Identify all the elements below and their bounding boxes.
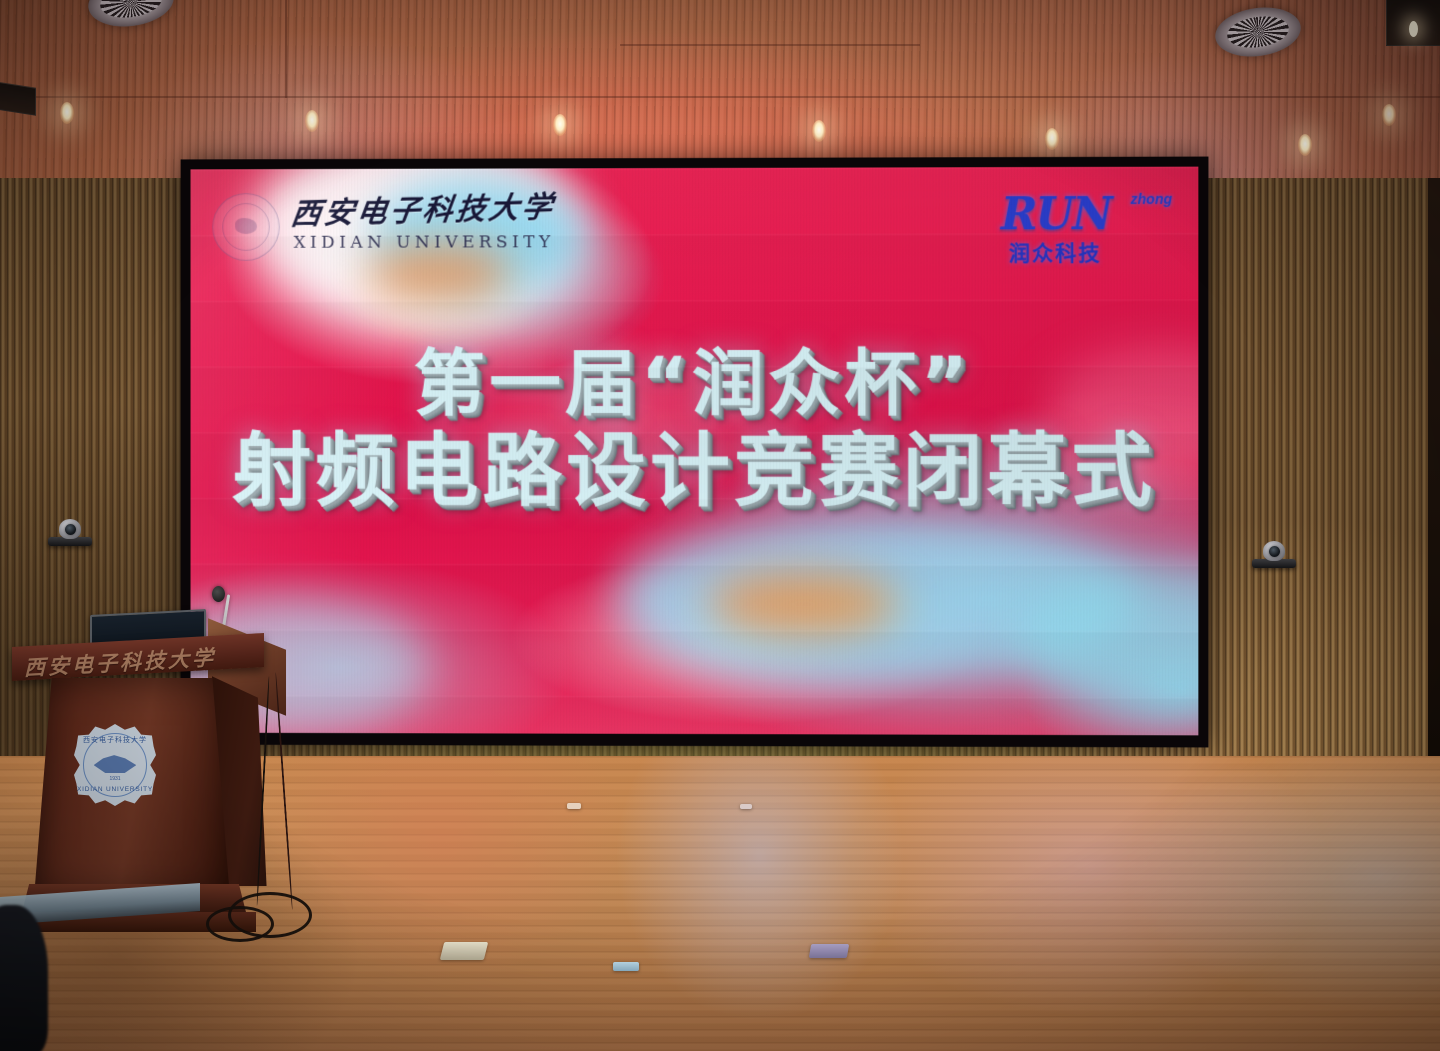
- led-screen[interactable]: 西安电子科技大学 XIDIAN UNIVERSITY RUN zhong 润众科…: [191, 167, 1199, 736]
- ceiling-seam: [0, 96, 1440, 98]
- floor-outlet-plate: [809, 944, 849, 958]
- cable-coil: [206, 906, 274, 942]
- runzhong-technology-logo: RUN zhong 润众科技: [1001, 187, 1174, 262]
- ceiling-downlight: [60, 102, 74, 124]
- ceiling-downlight: [812, 120, 826, 142]
- floor-marker: [740, 804, 752, 809]
- emblem-text-chinese: 西安电子科技大学: [74, 735, 156, 745]
- led-screen-frame: 西安电子科技大学 XIDIAN UNIVERSITY RUN zhong 润众科…: [181, 157, 1209, 748]
- university-name-english: XIDIAN UNIVERSITY: [294, 232, 555, 252]
- microphone-head-icon: [212, 586, 225, 602]
- ceiling-downlight: [1298, 134, 1312, 156]
- emblem-text-english: XIDIAN UNIVERSITY: [74, 786, 156, 793]
- ceiling-downlight: [1045, 128, 1059, 150]
- ceiling-seam: [285, 0, 287, 98]
- wall-edge-shadow: [1428, 178, 1440, 758]
- ceiling-light-panel: [1386, 0, 1440, 46]
- event-title-line1: 第一届“润众杯”: [191, 343, 1199, 422]
- floor-marker: [567, 803, 581, 809]
- xidian-university-logo: 西安电子科技大学 XIDIAN UNIVERSITY: [212, 190, 500, 268]
- sponsor-name-chinese: 润众科技: [1009, 237, 1102, 267]
- ceiling-downlight: [553, 114, 567, 136]
- event-title-line2: 射频电路设计竞赛闭幕式: [191, 428, 1199, 514]
- ceiling-seam: [620, 44, 920, 46]
- ptz-camera-left: [48, 516, 92, 546]
- sponsor-wordmark: RUN: [1001, 193, 1111, 237]
- floor-outlet-plate: [440, 942, 488, 960]
- camera-lens-icon: [1269, 546, 1280, 557]
- floor-outlet-plate: [613, 962, 639, 971]
- camera-lens-icon: [65, 524, 76, 535]
- auditorium-scene: 西安电子科技大学 XIDIAN UNIVERSITY RUN zhong 润众科…: [0, 0, 1440, 1051]
- event-title-block: 第一届“润众杯” 射频电路设计竞赛闭幕式: [191, 343, 1199, 514]
- ceiling-downlight: [305, 110, 319, 132]
- sponsor-superscript: zhong: [1131, 191, 1173, 207]
- ptz-camera-right: [1252, 538, 1296, 568]
- university-seal-icon: [212, 193, 279, 261]
- ceiling-downlight: [1382, 104, 1396, 126]
- emblem-year: 1931: [74, 776, 156, 782]
- university-emblem: 西安电子科技大学 1931 XIDIAN UNIVERSITY: [74, 724, 156, 806]
